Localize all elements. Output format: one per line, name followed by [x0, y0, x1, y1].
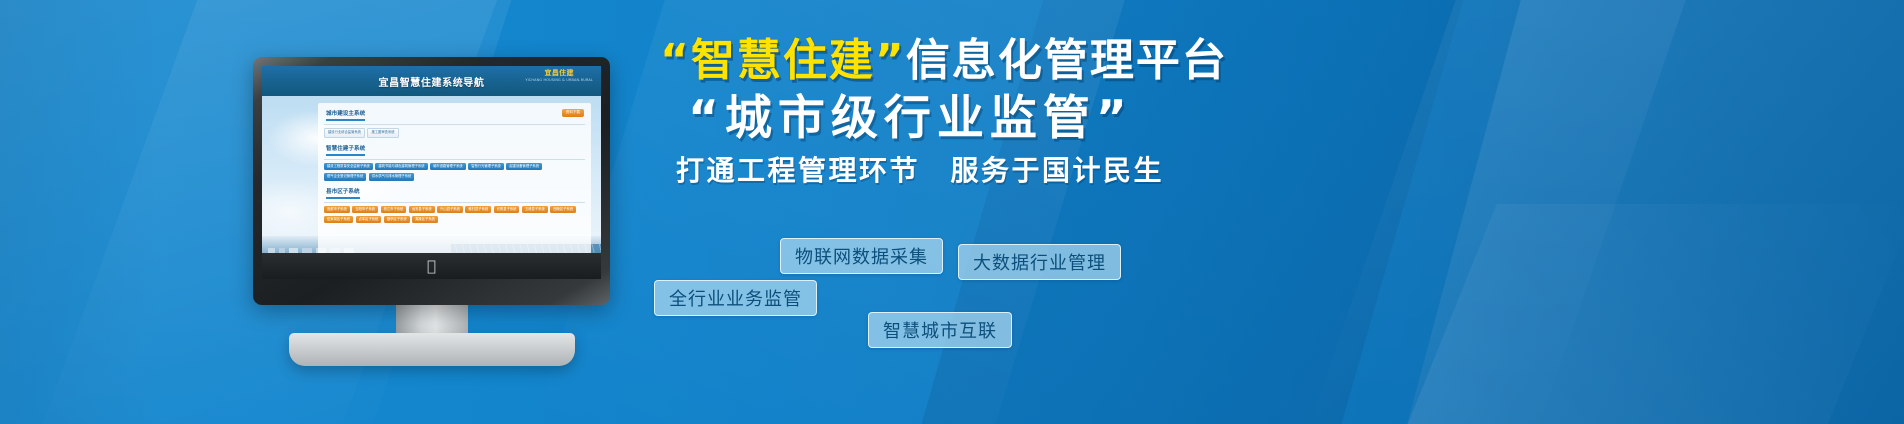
portal-section-items-2: 宜都市子系统 当阳市子系统 枝江市子系统 远安县子系统 兴山县子系统 秭归县子系… — [324, 206, 585, 224]
monitor-screen: 宜昌智慧住建系统导航 宜昌住建 YICHANG HOUSING & URBAN-… — [262, 66, 601, 279]
imac-monitor-mockup: 宜昌智慧住建系统导航 宜昌住建 YICHANG HOUSING & URBAN-… — [253, 57, 610, 305]
portal-item[interactable]: 供水供气与排水管理子系统 — [369, 173, 415, 181]
headline-block: “智慧住建”信息化管理平台 “城市级行业监管” 打通工程管理环节 服务于国计民生 — [646, 38, 1826, 186]
portal-item[interactable]: 智慧行光管理子系统 — [468, 163, 504, 171]
headline-line-2: “城市级行业监管” — [646, 94, 1826, 143]
portal-item[interactable]: 起重设备管理子系统 — [506, 163, 542, 171]
portal-item[interactable]: 燃气企业登记管理子系统 — [324, 173, 366, 181]
portal-body: 资料下载 城市建设主系统 建设行业综合监管系统 施工图审查系统 智慧住建子系统 — [262, 96, 601, 279]
portal-logo-subtitle: YICHANG HOUSING & URBAN-RURAL — [525, 79, 593, 82]
feature-tag-smart-city[interactable]: 智慧城市互联 — [868, 312, 1012, 348]
portal-item[interactable]: 建设行业综合监管系统 — [324, 128, 365, 138]
portal-item[interactable]: 西陵区子系统 — [550, 206, 576, 214]
portal-section-items-0: 建设行业综合监管系统 施工图审查系统 — [324, 128, 585, 138]
portal-title: 宜昌智慧住建系统导航 — [379, 74, 485, 89]
portal-section-title-2: 县市区子系统 — [324, 185, 585, 203]
feature-tag-bigdata-industry[interactable]: 大数据行业管理 — [958, 244, 1121, 280]
portal-item[interactable]: 当阳市子系统 — [352, 206, 378, 214]
hero-banner: 宜昌智慧住建系统导航 宜昌住建 YICHANG HOUSING & URBAN-… — [0, 0, 1904, 424]
decorative-facet-edge — [0, 0, 160, 424]
portal-section-items-1: 建设工程质量安全监管子系统 建筑节能与绿色建筑管理子系统 城市道路管理子系统 智… — [324, 163, 585, 181]
portal-item[interactable]: 宜都市子系统 — [324, 206, 350, 214]
portal-item[interactable]: 秭归县子系统 — [465, 206, 491, 214]
download-button[interactable]: 资料下载 — [562, 109, 584, 117]
feature-tag-industry-supervision[interactable]: 全行业业务监管 — [654, 280, 817, 316]
portal-section-title-0: 城市建设主系统 — [324, 107, 585, 125]
portal-item[interactable]: 建设工程质量安全监管子系统 — [324, 163, 373, 171]
portal-item[interactable]: 五峰县子系统 — [522, 206, 548, 214]
feature-tag-group: 物联网数据采集 大数据行业管理 全行业业务监管 智慧城市互联 — [640, 232, 1460, 412]
portal-item[interactable]: 远安县子系统 — [409, 206, 435, 214]
portal-item[interactable]: 夷陵区子系统 — [412, 216, 438, 224]
portal-header: 宜昌智慧住建系统导航 宜昌住建 YICHANG HOUSING & URBAN-… — [262, 66, 601, 96]
portal-section-title-1: 智慧住建子系统 — [324, 142, 585, 160]
portal-item[interactable]: 枝江市子系统 — [381, 206, 407, 214]
portal-item[interactable]: 点军区子系统 — [356, 216, 382, 224]
portal-item[interactable]: 建筑节能与绿色建筑管理子系统 — [375, 163, 427, 171]
portal-logo-main: 宜昌住建 — [525, 70, 593, 77]
portal-item[interactable]: 兴山县子系统 — [437, 206, 463, 214]
headline-line-3: 打通工程管理环节 服务于国计民生 — [646, 156, 1826, 187]
monitor-bezel: 宜昌智慧住建系统导航 宜昌住建 YICHANG HOUSING & URBAN-… — [253, 57, 610, 305]
headline-line-1-rest: 信息化管理平台 — [906, 35, 1228, 86]
headline-line-1: “智慧住建”信息化管理平台 — [646, 38, 1826, 84]
portal-item[interactable]: 施工图审查系统 — [367, 128, 398, 138]
monitor-stand-base — [289, 333, 575, 366]
portal-item[interactable]: 城市道路管理子系统 — [430, 163, 466, 171]
portal-logo: 宜昌住建 YICHANG HOUSING & URBAN-RURAL — [525, 70, 593, 82]
feature-tag-iot-data[interactable]: 物联网数据采集 — [780, 238, 943, 274]
monitor-chin:  — [262, 253, 601, 279]
apple-logo-icon:  — [427, 259, 436, 274]
portal-item[interactable]: 伍家岗区子系统 — [324, 216, 353, 224]
headline-line-1-highlight: “智慧住建” — [660, 35, 906, 86]
portal-item[interactable]: 长阳县子系统 — [494, 206, 520, 214]
portal-item[interactable]: 猖亭区子系统 — [384, 216, 410, 224]
